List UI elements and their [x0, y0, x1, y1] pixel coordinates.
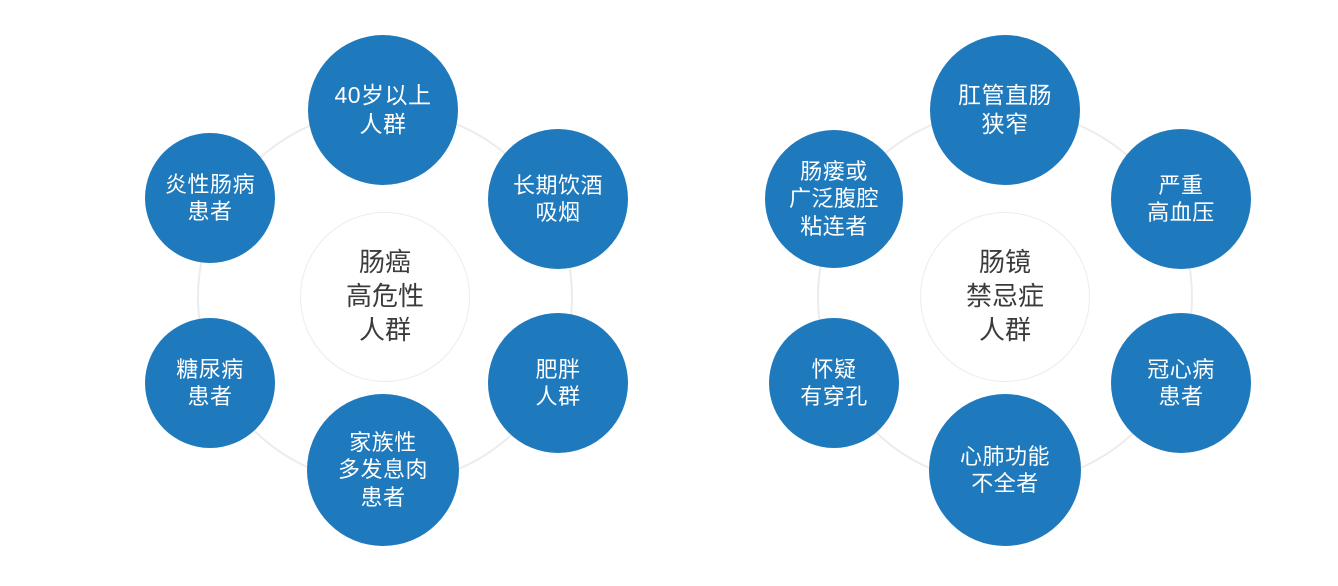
node-label-line: 严重	[1158, 172, 1203, 199]
hub-intestinal-cancer-high-risk: 肠癌高危性人群	[300, 212, 470, 382]
node-label-line: 狭窄	[982, 110, 1029, 139]
node-age-over-40[interactable]: 40岁以上人群	[308, 35, 458, 185]
node-label-line: 肠瘘或	[800, 158, 868, 185]
node-label-line: 患者	[187, 383, 232, 410]
node-coronary-heart-disease[interactable]: 冠心病患者	[1111, 313, 1251, 453]
node-label-line: 肛管直肠	[958, 81, 1052, 110]
node-familial-polyposis[interactable]: 家族性多发息肉患者	[307, 394, 459, 546]
hub-label-line: 肠癌	[359, 246, 411, 280]
node-label-line: 粘连者	[800, 213, 868, 240]
node-long-term-drinking-smoking[interactable]: 长期饮酒吸烟	[488, 129, 628, 269]
node-severe-hypertension[interactable]: 严重高血压	[1111, 129, 1251, 269]
node-anal-rectal-stenosis[interactable]: 肛管直肠狭窄	[930, 35, 1080, 185]
node-label-line: 患者	[360, 484, 405, 511]
hub-label-line: 人群	[979, 314, 1031, 348]
node-label-line: 人群	[360, 110, 407, 139]
node-fistula-or-adhesion[interactable]: 肠瘘或广泛腹腔粘连者	[765, 130, 903, 268]
node-label-line: 有穿孔	[800, 383, 868, 410]
cluster-intestinal-cancer-high-risk: 肠癌高危性人群40岁以上人群长期饮酒吸烟肥胖人群家族性多发息肉患者糖尿病患者炎性…	[0, 0, 669, 586]
node-ibd-patients[interactable]: 炎性肠病患者	[145, 133, 275, 263]
node-label-line: 家族性	[349, 429, 417, 456]
cluster-colonoscopy-contraindications: 肠镜禁忌症人群肛管直肠狭窄严重高血压冠心病患者心肺功能不全者怀疑有穿孔肠瘘或广泛…	[669, 0, 1338, 586]
node-diabetes-patients[interactable]: 糖尿病患者	[145, 318, 275, 448]
node-label-line: 肥胖	[535, 356, 580, 383]
hub-label-line: 人群	[359, 314, 411, 348]
hub-label-line: 肠镜	[979, 246, 1031, 280]
node-cardiopulmonary-insufficiency[interactable]: 心肺功能不全者	[929, 394, 1081, 546]
node-obese-people[interactable]: 肥胖人群	[488, 313, 628, 453]
node-label-line: 广泛腹腔	[789, 185, 879, 212]
node-label-line: 多发息肉	[338, 456, 428, 483]
node-label-line: 患者	[187, 198, 232, 225]
node-label-line: 冠心病	[1147, 356, 1215, 383]
node-suspected-perforation[interactable]: 怀疑有穿孔	[769, 318, 899, 448]
node-label-line: 40岁以上	[334, 81, 431, 110]
node-label-line: 糖尿病	[176, 356, 244, 383]
node-label-line: 怀疑	[811, 356, 856, 383]
hub-colonoscopy-contraindications: 肠镜禁忌症人群	[920, 212, 1090, 382]
node-label-line: 不全者	[971, 470, 1039, 497]
node-label-line: 人群	[535, 383, 580, 410]
node-label-line: 吸烟	[535, 199, 580, 226]
node-label-line: 患者	[1158, 383, 1203, 410]
node-label-line: 炎性肠病	[165, 171, 255, 198]
node-label-line: 长期饮酒	[513, 172, 603, 199]
node-label-line: 高血压	[1147, 199, 1215, 226]
node-label-line: 心肺功能	[960, 443, 1050, 470]
diagram-canvas: 肠癌高危性人群40岁以上人群长期饮酒吸烟肥胖人群家族性多发息肉患者糖尿病患者炎性…	[0, 0, 1338, 586]
hub-label-line: 高危性	[346, 280, 424, 314]
hub-label-line: 禁忌症	[966, 280, 1044, 314]
